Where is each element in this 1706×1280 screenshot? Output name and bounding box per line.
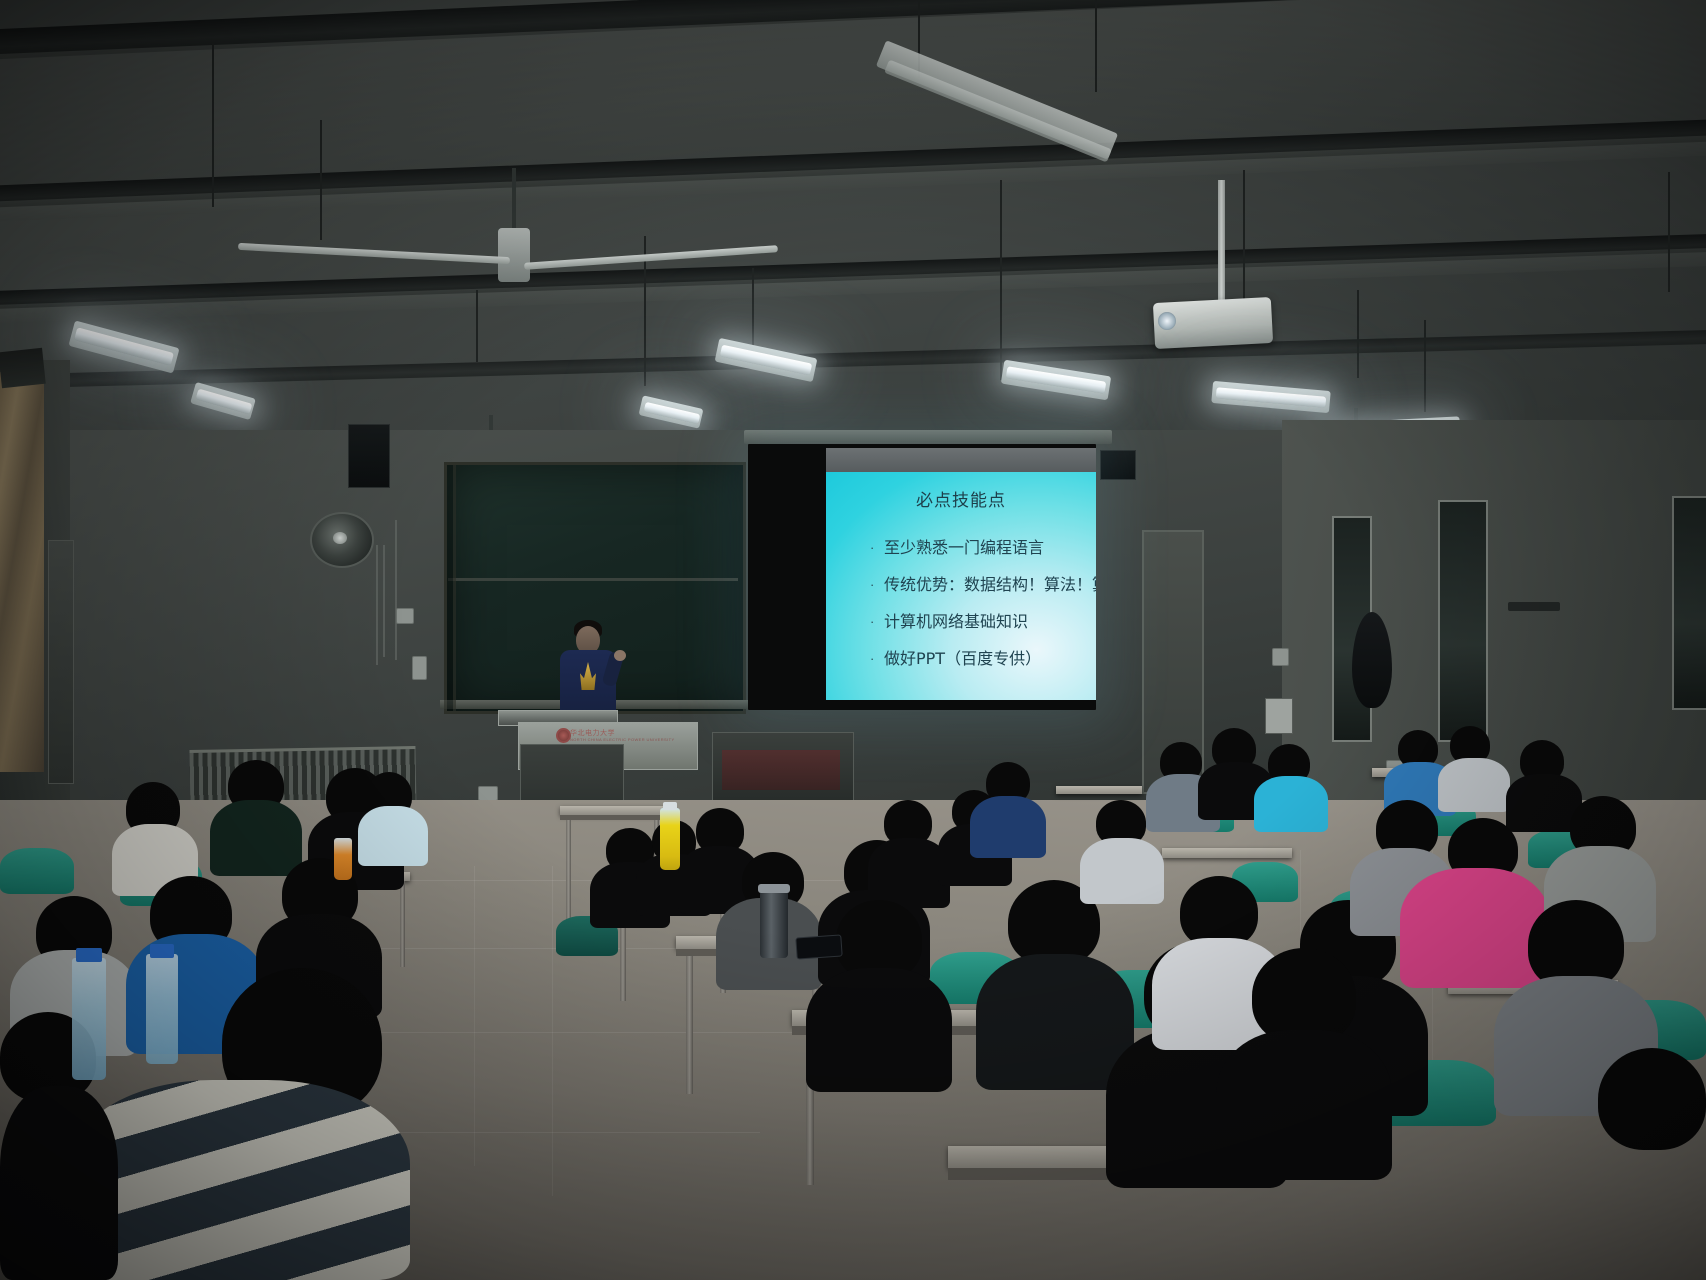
pull-cord — [376, 545, 378, 665]
wall-outlet-right[interactable] — [1272, 648, 1289, 666]
audience-body — [210, 800, 302, 876]
desk-leg — [686, 956, 693, 1094]
audience-body — [1400, 868, 1550, 988]
hanger-rod — [752, 268, 754, 356]
bottle-cap — [76, 948, 102, 962]
floor-tile-line — [474, 866, 475, 1166]
blackboard-divider — [448, 578, 738, 581]
university-logo-subtext: NORTH CHINA ELECTRIC POWER UNIVERSITY — [570, 737, 675, 742]
wall-switch[interactable] — [412, 656, 427, 680]
hanger-rod — [1424, 320, 1426, 412]
right-window-2 — [1438, 500, 1488, 742]
bullet-marker-icon: · — [870, 612, 884, 632]
slide-content: 必点技能点 · 至少熟悉一门编程语言 · 传统优势：数据结构！算法！算法！算法！… — [826, 472, 1096, 700]
bullet-marker-icon: · — [870, 649, 884, 669]
desk-edge — [560, 815, 666, 820]
pull-cord — [383, 545, 385, 657]
floor-tile-line — [380, 1132, 760, 1133]
audience-body — [1438, 758, 1510, 812]
slide-bullet-item: · 至少熟悉一门编程语言 — [870, 538, 1096, 558]
screen-top-bar — [826, 448, 1096, 473]
hanger-rod — [212, 42, 214, 207]
wall-outlet[interactable] — [478, 786, 498, 801]
student-desk — [1056, 786, 1142, 794]
smartphone[interactable] — [795, 934, 842, 959]
water-bottle[interactable] — [72, 958, 106, 1080]
audience-body — [1080, 838, 1164, 904]
projector-screen-case — [744, 430, 1112, 444]
wall-fan-hub — [333, 532, 347, 544]
desk-leg — [400, 881, 405, 967]
projector-lens-icon — [1158, 312, 1176, 330]
audience-body — [358, 806, 428, 866]
audience-body — [1216, 1030, 1392, 1180]
travel-mug[interactable] — [760, 890, 788, 958]
wall-speaker-right — [1100, 450, 1136, 480]
bullet-marker-icon: · — [870, 538, 884, 558]
floor-tile-line — [380, 1032, 820, 1033]
travel-mug-lid — [758, 884, 790, 893]
audience-body — [1254, 776, 1328, 832]
slide-bullet-list: · 至少熟悉一门编程语言 · 传统优势：数据结构！算法！算法！算法！ · 计算机… — [870, 538, 1096, 686]
slide-bullet-item: · 计算机网络基础知识 — [870, 612, 1096, 632]
audience-body-foreground — [70, 1080, 410, 1280]
audience-body — [970, 796, 1046, 858]
wall-speaker — [348, 424, 390, 488]
yellow-beverage-bottle[interactable] — [660, 808, 680, 870]
coat-hook-rail[interactable] — [1508, 602, 1560, 611]
orange-beverage-bottle[interactable] — [334, 838, 352, 880]
presenter-hand — [614, 650, 626, 661]
right-window-3 — [1672, 496, 1706, 710]
right-wall-notice — [1265, 698, 1293, 734]
audience-body — [0, 1086, 118, 1280]
wall-outlet[interactable] — [396, 608, 414, 624]
curtain-top-rail — [0, 348, 46, 388]
slide-bullet-item: · 做好PPT（百度专供） — [870, 649, 1096, 669]
hanger-rod — [320, 120, 322, 240]
audience-body — [806, 968, 952, 1092]
ceiling-fan-hub — [498, 228, 530, 282]
hanger-rod — [476, 290, 478, 362]
slide-bullet-text: 至少熟悉一门编程语言 — [884, 538, 1044, 558]
projector-pole — [1218, 180, 1225, 308]
window-curtain — [0, 372, 44, 772]
hanger-rod — [1357, 290, 1359, 378]
hanger-rod — [1000, 180, 1002, 380]
audience-body — [976, 954, 1134, 1090]
hanger-rod — [1095, 0, 1097, 92]
university-logo-icon — [556, 728, 571, 743]
desk-leg — [566, 820, 571, 922]
blackboard-left-panel — [444, 462, 456, 714]
slide-bullet-text: 做好PPT（百度专供） — [884, 649, 1041, 669]
slide-bullet-text: 计算机网络基础知识 — [884, 612, 1028, 632]
audience-head-foreground — [1598, 1048, 1706, 1150]
bottle-cap — [150, 944, 174, 958]
pull-cord — [395, 520, 397, 660]
hanger-rod — [1668, 172, 1670, 292]
student-desk — [560, 806, 666, 815]
floor-tile-line — [552, 866, 553, 1196]
wall-panel-left — [48, 540, 74, 784]
slide-title: 必点技能点 — [826, 486, 1096, 511]
bottle-cap — [663, 802, 677, 810]
student-desk — [1162, 848, 1292, 858]
equipment-rack-panel — [722, 750, 840, 790]
slide-bullet-text: 传统优势：数据结构！算法！算法！算法！ — [884, 575, 1096, 595]
slide-bullet-item: · 传统优势：数据结构！算法！算法！算法！ — [870, 575, 1096, 595]
bullet-marker-icon: · — [870, 575, 884, 595]
classroom-photo: 必点技能点 · 至少熟悉一门编程语言 · 传统优势：数据结构！算法！算法！算法！… — [0, 0, 1706, 1280]
classroom-chair — [0, 848, 74, 894]
water-bottle[interactable] — [146, 954, 178, 1064]
